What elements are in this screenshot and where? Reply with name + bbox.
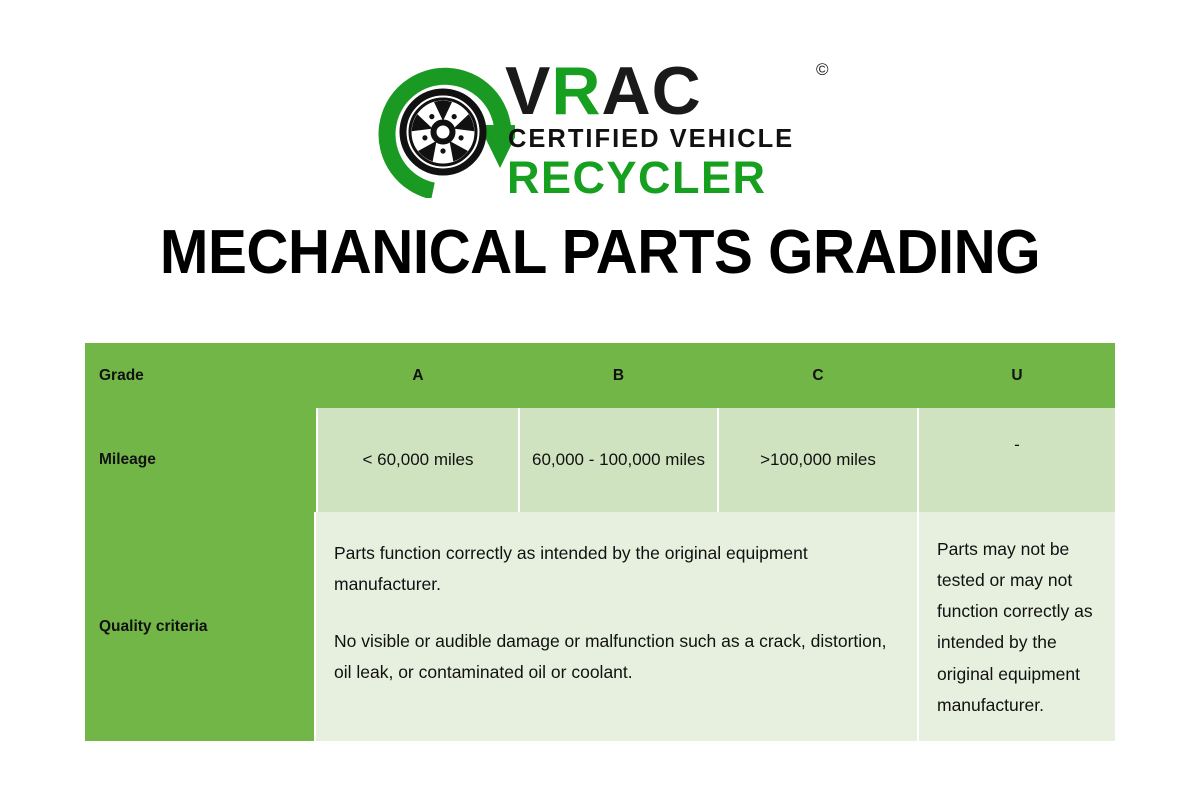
cell-mileage-a: < 60,000 miles bbox=[318, 408, 518, 512]
cell-mileage-u: - bbox=[919, 408, 1115, 512]
table-row: Quality criteria Parts function correctl… bbox=[85, 512, 1115, 741]
header-cell-c: C bbox=[719, 343, 917, 408]
logo-wordmark-recycler: RECYCLER bbox=[507, 155, 767, 200]
header-cell-a: A bbox=[318, 343, 518, 408]
mechanical-parts-grading-table: Grade A B C U Mileage < 60,000 miles 60,… bbox=[85, 343, 1115, 741]
logo-wordmark: VRAC © CERTIFIED VEHICLE RECYCLER bbox=[505, 55, 850, 205]
brand-logo: VRAC © CERTIFIED VEHICLE RECYCLER bbox=[375, 55, 845, 205]
cell-quality-abc-paragraph-2: No visible or audible damage or malfunct… bbox=[334, 626, 899, 688]
wheel-recycle-arrow-logo-icon bbox=[375, 63, 515, 198]
logo-letter-r: R bbox=[551, 53, 601, 129]
logo-letter-v: V bbox=[505, 53, 551, 129]
header-cell-grade: Grade bbox=[85, 343, 316, 408]
logo-letters-ac: AC bbox=[601, 53, 701, 129]
cell-quality-u: Parts may not be tested or may not funct… bbox=[919, 512, 1115, 741]
logo-tagline: CERTIFIED VEHICLE bbox=[508, 127, 794, 153]
logo-wordmark-vrac: VRAC bbox=[505, 57, 702, 125]
copyright-icon: © bbox=[816, 61, 829, 78]
cell-mileage-b: 60,000 - 100,000 miles bbox=[520, 408, 717, 512]
cell-quality-abc-paragraph-1: Parts function correctly as intended by … bbox=[334, 538, 899, 600]
header-cell-b: B bbox=[520, 343, 717, 408]
table-row: Mileage < 60,000 miles 60,000 - 100,000 … bbox=[85, 408, 1115, 512]
table-header-row: Grade A B C U bbox=[85, 343, 1115, 408]
page-title: MECHANICAL PARTS GRADING bbox=[36, 222, 1164, 284]
cell-quality-abc: Parts function correctly as intended by … bbox=[316, 512, 917, 741]
row-label-quality-criteria: Quality criteria bbox=[85, 512, 314, 741]
header-cell-u: U bbox=[919, 343, 1115, 408]
cell-mileage-c: >100,000 miles bbox=[719, 408, 917, 512]
row-label-mileage: Mileage bbox=[85, 408, 316, 512]
